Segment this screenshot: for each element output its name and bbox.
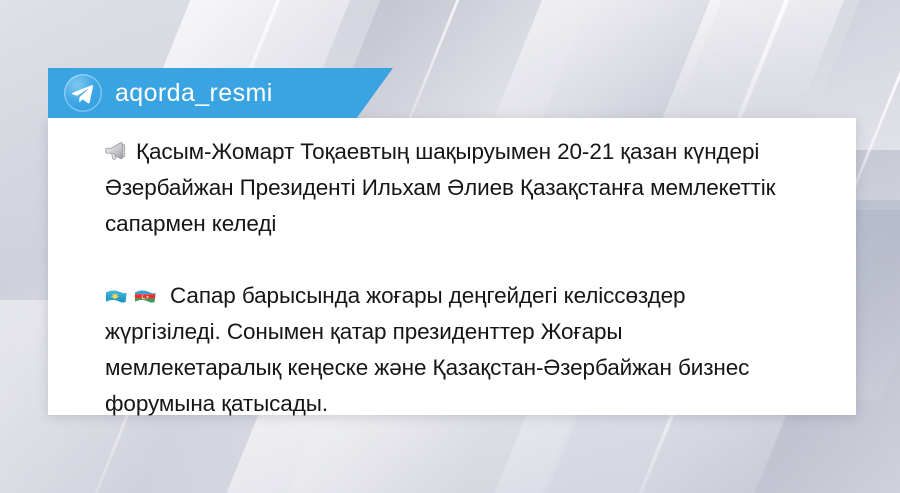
channel-name: aqorda_resmi — [115, 81, 273, 106]
post-paragraph: Қасым-Жомарт Тоқаевтың шақыруымен 20-21 … — [105, 134, 795, 242]
telegram-post-card: Қасым-Жомарт Тоқаевтың шақыруымен 20-21 … — [48, 68, 856, 415]
post-paragraph-text: Қасым-Жомарт Тоқаевтың шақыруымен 20-21 … — [105, 139, 775, 236]
flag-kazakhstan-emoji — [105, 289, 128, 306]
card-body: Қасым-Жомарт Тоқаевтың шақыруымен 20-21 … — [48, 118, 856, 415]
post-paragraph: Сапар барысында жоғары деңгейдегі келісс… — [105, 278, 795, 422]
post-content: Қасым-Жомарт Тоқаевтың шақыруымен 20-21 … — [105, 134, 795, 422]
telegram-icon — [64, 74, 102, 112]
post-paragraph-text: Сапар барысында жоғары деңгейдегі келісс… — [105, 283, 749, 416]
screenshot-root: Қасым-Жомарт Тоқаевтың шақыруымен 20-21 … — [0, 0, 900, 493]
channel-banner: aqorda_resmi — [48, 68, 393, 118]
flag-azerbaijan-emoji — [134, 289, 157, 306]
flag-pair — [105, 278, 163, 314]
loudspeaker-emoji — [105, 140, 129, 162]
